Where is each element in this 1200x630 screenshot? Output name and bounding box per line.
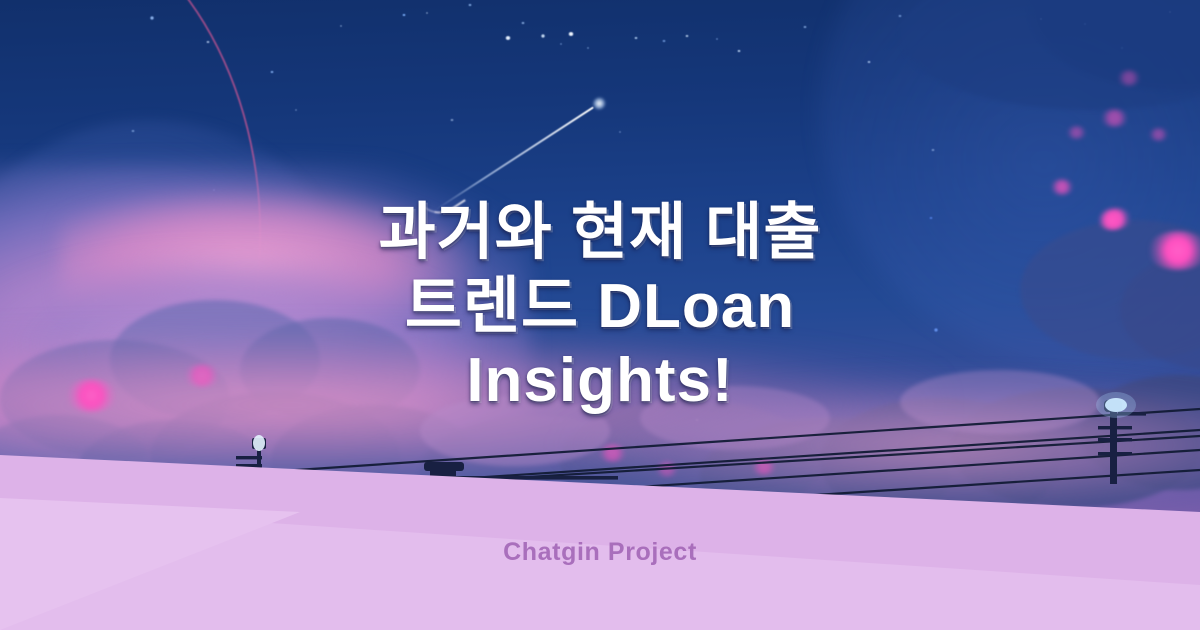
poster-canvas: 과거와 현재 대출 트렌드 DLoan Insights! Chatgin Pr… [0,0,1200,630]
page-title: 과거와 현재 대출 트렌드 DLoan Insights! [0,196,1200,418]
brand-footer: Chatgin Project [0,538,1200,567]
street-lamp-glow-left [253,435,265,451]
utility-pole-right [1110,408,1117,484]
